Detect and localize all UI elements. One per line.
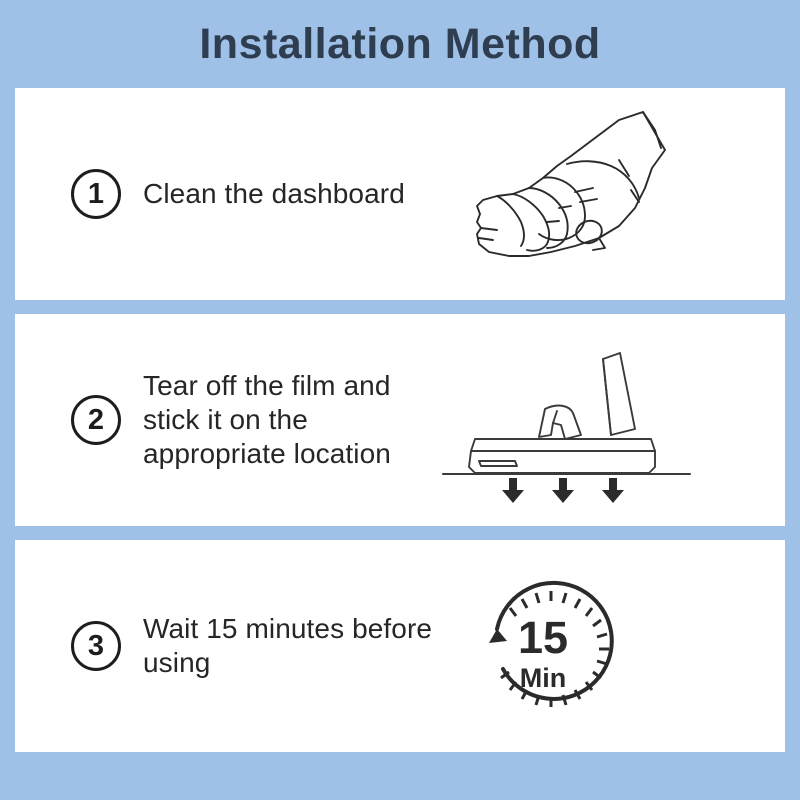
- step-description-3: Wait 15 minutes before using: [143, 612, 435, 680]
- step-number-badge-3: 3: [71, 621, 121, 671]
- page-header: Installation Method: [0, 0, 800, 88]
- step-2-illustration: [435, 314, 785, 526]
- timer-value: 15: [518, 612, 568, 663]
- step-card-2: 2 Tear off the film and stick it on the …: [15, 314, 785, 526]
- step-description-2: Tear off the film and stick it on the ap…: [143, 369, 435, 471]
- press-down-arrows: [502, 478, 624, 503]
- steps-list: 1 Clean the dashboard: [0, 88, 800, 752]
- step-number-badge-1: 1: [71, 169, 121, 219]
- step-card-1: 1 Clean the dashboard: [15, 88, 785, 300]
- installation-method-page: Installation Method 1 Clean the dashboar…: [0, 0, 800, 800]
- step-1-illustration: [435, 88, 785, 300]
- timer-unit: Min: [520, 663, 567, 693]
- footer-spacer: [0, 752, 800, 800]
- timer-arrow-head: [489, 629, 507, 643]
- step-3-illustration: 15 Min: [435, 540, 785, 752]
- page-title: Installation Method: [199, 23, 600, 66]
- step-description-1: Clean the dashboard: [143, 177, 405, 211]
- hand-wiping-cloth-icon: [447, 104, 697, 289]
- phone-mount-press-down-icon: [435, 347, 700, 512]
- step-number-badge-2: 2: [71, 395, 121, 445]
- timer-icon: 15 Min: [483, 577, 619, 717]
- step-1-content: 1 Clean the dashboard: [15, 169, 435, 219]
- step-card-3: 3 Wait 15 minutes before using: [15, 540, 785, 752]
- step-2-content: 2 Tear off the film and stick it on the …: [15, 369, 435, 471]
- step-3-content: 3 Wait 15 minutes before using: [15, 612, 435, 680]
